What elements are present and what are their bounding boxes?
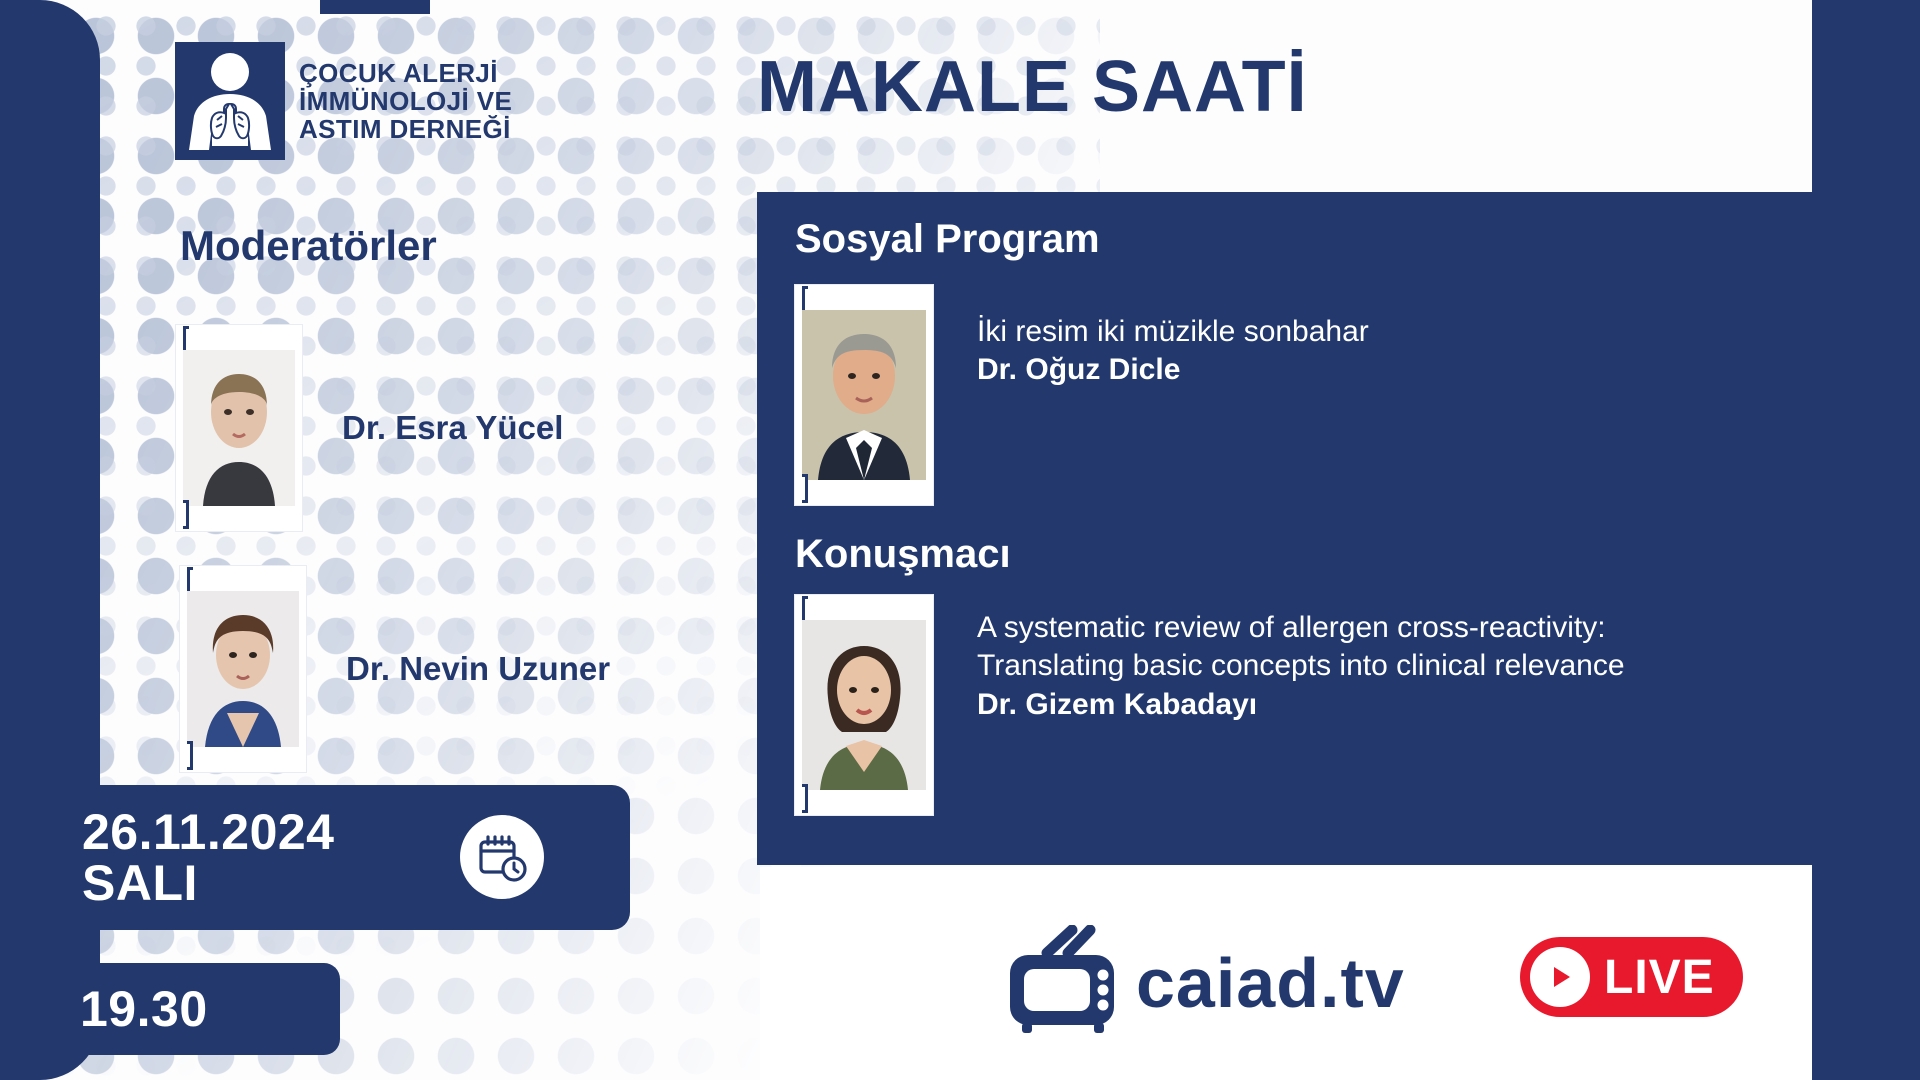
play-icon (1530, 947, 1590, 1007)
calendar-clock-icon (460, 815, 544, 899)
talk-title-line-2: Translating basic concepts into clinical… (977, 647, 1625, 685)
talk-title-line-1: A systematic review of allergen cross-re… (977, 609, 1625, 647)
avatar (795, 285, 933, 505)
caiad-tv-brand[interactable]: caiad.tv (1002, 925, 1405, 1040)
live-badge[interactable]: LIVE (1520, 937, 1743, 1017)
child-lungs-icon (175, 42, 285, 160)
logo-line-2: İMMÜNOLOJİ VE (299, 87, 512, 115)
talk-title: İki resim iki müzikle sonbahar (977, 313, 1369, 351)
poster-canvas: ÇOCUK ALERJİ İMMÜNOLOJİ VE ASTIM DERNEĞİ… (0, 0, 1920, 1080)
event-time: 19.30 (80, 980, 208, 1038)
section-heading-sosyal-program: Sosyal Program (795, 217, 1100, 262)
time-card: 19.30 (0, 963, 340, 1055)
moderator-item: Dr. Nevin Uzuner (180, 566, 610, 772)
program-entry: A systematic review of allergen cross-re… (795, 595, 1625, 815)
retro-tv-icon (1002, 925, 1130, 1040)
moderator-item: Dr. Esra Yücel (176, 325, 563, 531)
avatar (176, 325, 302, 531)
speaker-name: Dr. Oğuz Dicle (977, 353, 1369, 387)
section-heading-konusmaci: Konuşmacı (795, 532, 1011, 577)
page-title: MAKALE SAATİ (757, 46, 1308, 128)
moderator-name: Dr. Nevin Uzuner (346, 650, 610, 688)
avatar (180, 566, 306, 772)
date-card: 26.11.2024 SALI (0, 785, 630, 930)
event-day: SALI (82, 858, 335, 909)
moderator-name: Dr. Esra Yücel (342, 409, 563, 447)
event-date: 26.11.2024 (82, 807, 335, 858)
speaker-name: Dr. Gizem Kabadayı (977, 688, 1625, 722)
logo-line-3: ASTIM DERNEĞİ (299, 115, 512, 143)
program-panel: Sosyal Program (757, 192, 1912, 865)
association-logo: ÇOCUK ALERJİ İMMÜNOLOJİ VE ASTIM DERNEĞİ (175, 42, 512, 160)
logo-line-1: ÇOCUK ALERJİ (299, 59, 512, 87)
top-accent-tab (320, 0, 430, 14)
moderators-heading: Moderatörler (180, 222, 437, 270)
program-entry: İki resim iki müzikle sonbahar Dr. Oğuz … (795, 285, 1369, 505)
footer-bar: caiad.tv LIVE (760, 867, 1812, 1080)
live-label: LIVE (1604, 950, 1715, 1005)
avatar (795, 595, 933, 815)
brand-label: caiad.tv (1136, 948, 1405, 1018)
